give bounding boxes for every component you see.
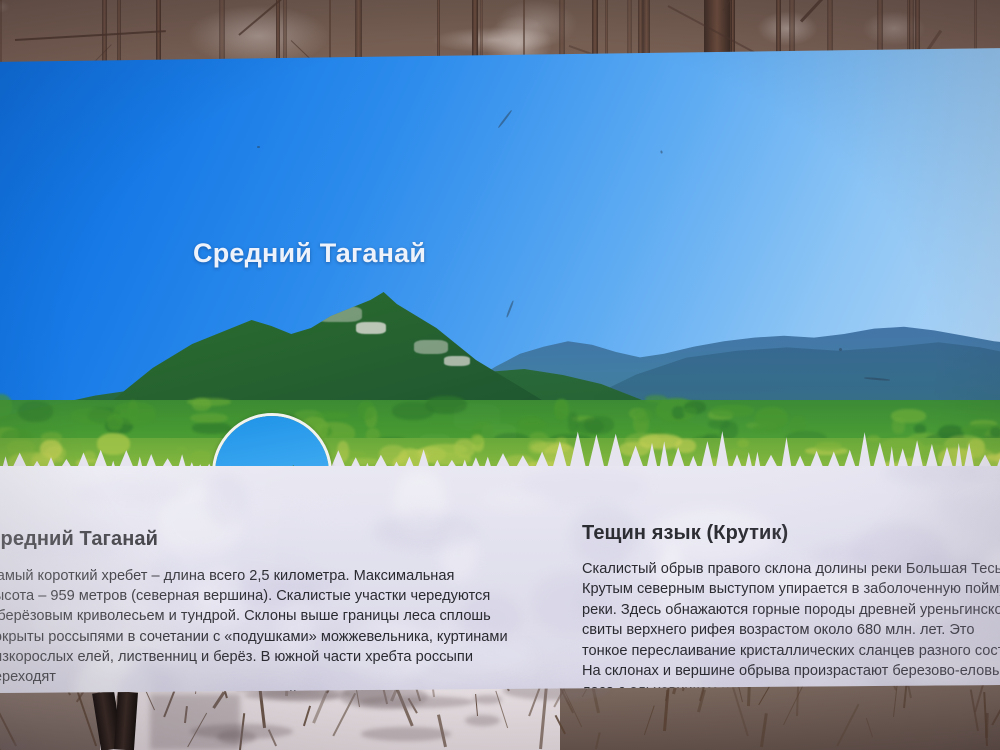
rocky-scree: [484, 318, 500, 352]
left-column-heading: Средний Таганай: [0, 528, 546, 551]
post-shadow: [150, 694, 240, 750]
text-column-left: Средний Таганай Самый короткий хребет – …: [0, 466, 546, 698]
rocky-scree: [414, 340, 448, 354]
text-column-right: Тещин язык (Крутик) Скалистый обрыв прав…: [582, 466, 1000, 698]
outdoor-scene: Средний Таганай Средний Таганай Самый ко…: [0, 0, 1000, 750]
photo-speck: [498, 110, 513, 129]
canopy-texture: [711, 405, 754, 416]
snow-shadow: [244, 691, 340, 700]
canopy-texture: [358, 401, 375, 420]
sign-post-right: [114, 691, 138, 750]
photo-speck: [660, 150, 663, 153]
photo-speck: [257, 146, 260, 148]
rocky-scree: [264, 296, 286, 306]
right-column-body: Скалистый обрыв правого склона долины ре…: [582, 559, 1000, 698]
inset-sky: [215, 416, 329, 473]
canopy-texture: [891, 409, 927, 423]
snow-shadow: [361, 727, 451, 741]
left-column-body: Самый короткий хребет – длина всего 2,5 …: [0, 566, 546, 698]
canopy-texture: [18, 401, 53, 423]
photo-speck: [506, 300, 514, 318]
canopy-texture: [634, 409, 652, 421]
information-board[interactable]: Средний Таганай Средний Таганай Самый ко…: [0, 48, 1000, 698]
canopy-texture: [0, 394, 12, 418]
board-photograph: Средний Таганай: [0, 48, 1000, 473]
rocky-scree: [314, 306, 362, 322]
canopy-texture: [645, 395, 667, 403]
dry-twig: [303, 705, 311, 725]
board-text-panel: Средний Таганай Самый короткий хребет – …: [0, 466, 1000, 698]
snow-shadow: [0, 742, 28, 750]
rocky-scree: [444, 356, 470, 366]
snow-patch: [757, 11, 818, 45]
photo-title: Средний Таганай: [193, 238, 426, 269]
rocky-scree: [356, 322, 386, 334]
circular-inset-photo: [212, 413, 332, 473]
canopy-texture: [128, 400, 138, 424]
snow-shadow: [465, 715, 500, 726]
canopy-texture: [682, 407, 697, 416]
canopy-texture: [554, 399, 569, 420]
snow-shadow: [473, 695, 502, 703]
canopy-texture: [187, 398, 231, 406]
tree-branch: [15, 30, 166, 40]
right-column-heading: Тещин язык (Крутик): [582, 522, 1000, 545]
canopy-texture: [392, 402, 434, 420]
